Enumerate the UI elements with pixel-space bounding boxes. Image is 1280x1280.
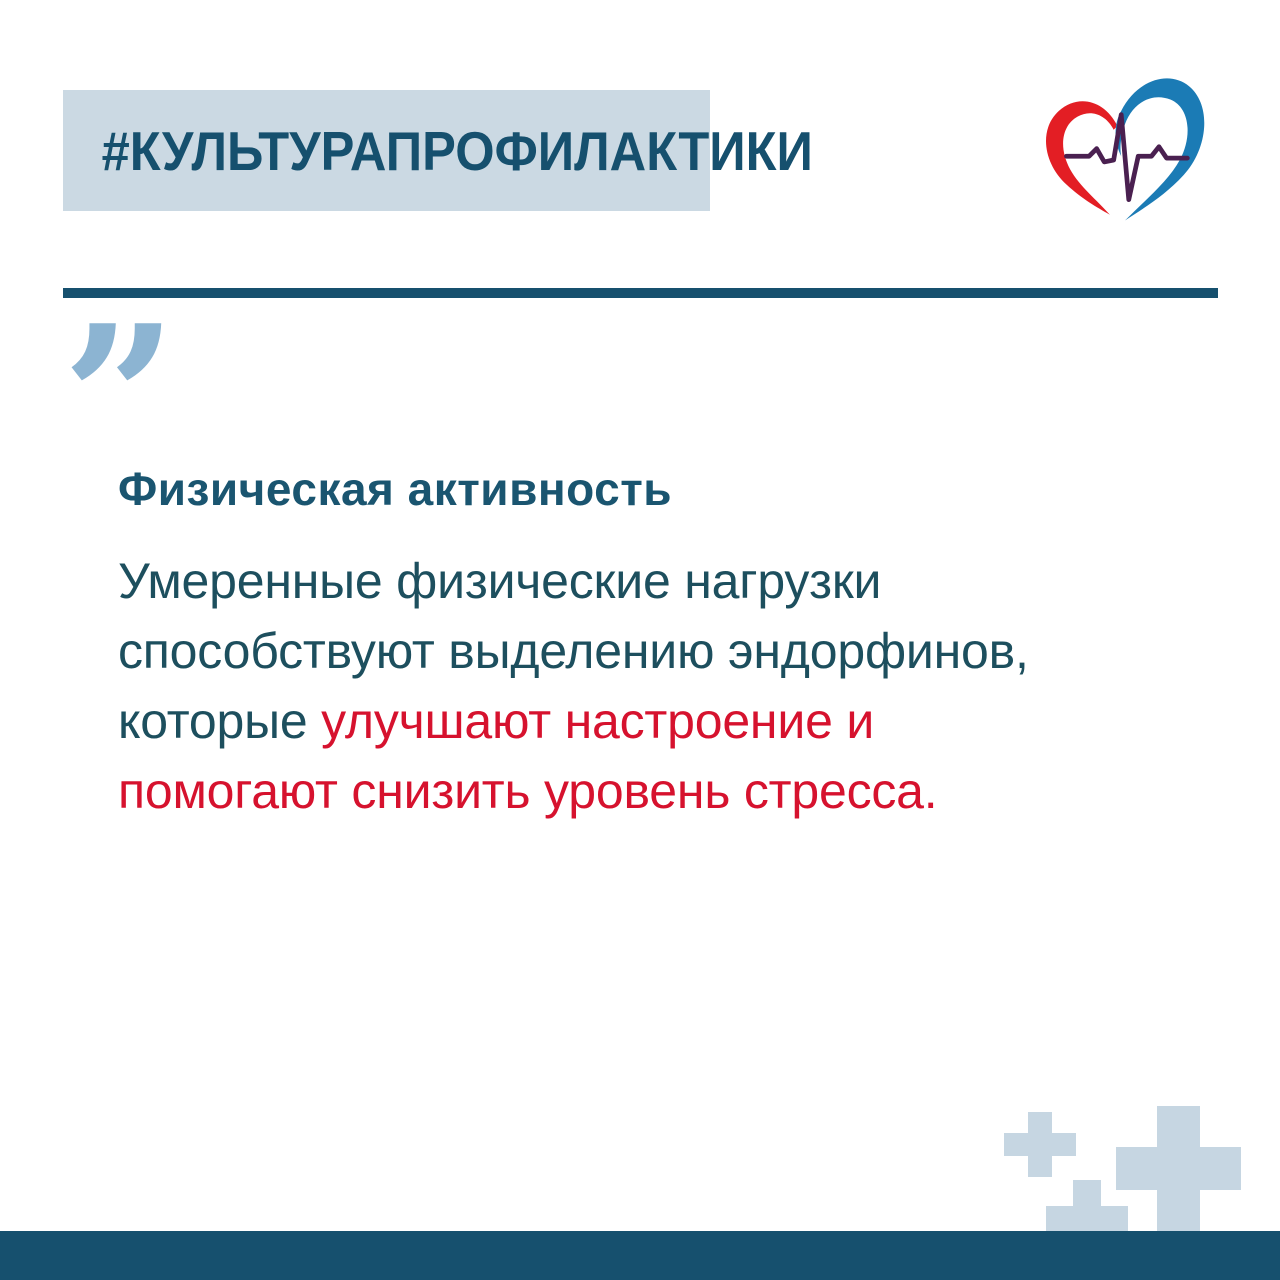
- hashtag-label: #КУЛЬТУРАПРОФИЛАКТИКИ: [63, 119, 813, 183]
- header-divider: [63, 288, 1218, 298]
- decorative-cross-small-icon: [1004, 1112, 1076, 1177]
- body-paragraph: Умеренные физические нагрузки способству…: [118, 546, 1098, 826]
- heart-ecg-logo: [1030, 58, 1220, 228]
- page-title: Физическая активность: [118, 462, 1098, 516]
- hashtag-banner: #КУЛЬТУРАПРОФИЛАКТИКИ: [63, 90, 710, 211]
- infographic-card: #КУЛЬТУРАПРОФИЛАКТИКИ ” Физическая актив…: [0, 0, 1280, 1280]
- footer-bar: [0, 1231, 1280, 1280]
- content-block: Физическая активность Умеренные физическ…: [118, 462, 1098, 826]
- decorative-cross-large-icon: [1116, 1106, 1241, 1231]
